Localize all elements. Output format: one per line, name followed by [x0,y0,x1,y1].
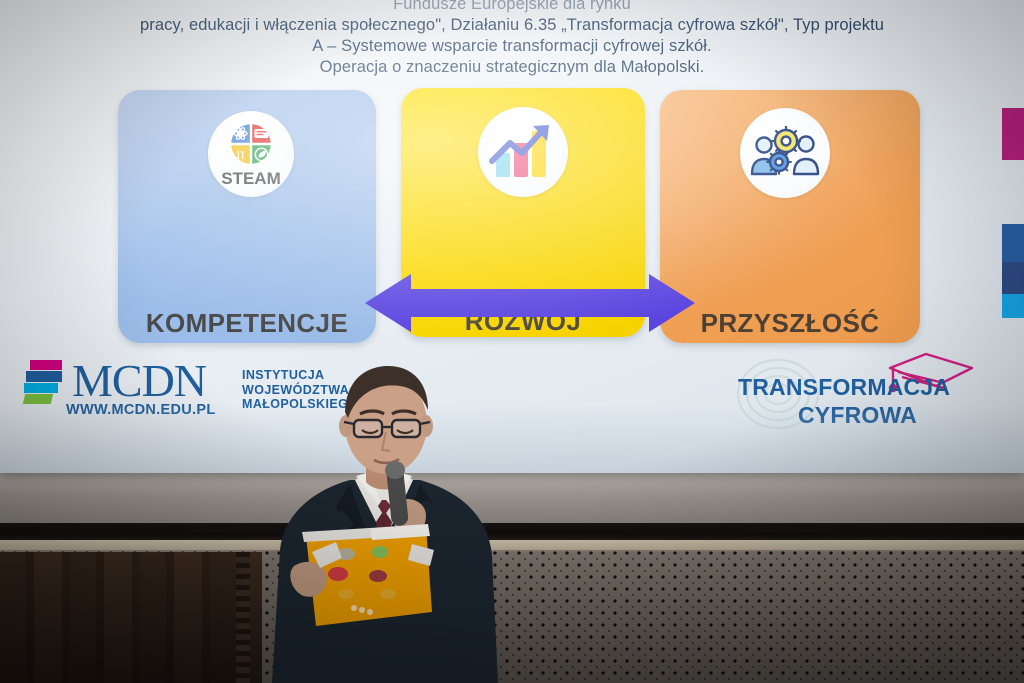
double-headed-arrow [365,272,695,334]
wood-edge-strip [236,552,250,683]
presentation-photo: Fundusze Europejskie dla rynku pracy, ed… [0,0,1024,683]
card-przyszlosc-label: PRZYSZŁOŚĆ [660,308,920,339]
slide-header-line-3: Operacja o znaczeniu strategicznym dla M… [0,57,1024,78]
transformacja-cyfrowa-logo: TRANSFORMACJA CYFROWA [730,360,980,430]
presenter-svg [250,360,520,683]
mcdn-logo-wordmark: MCDN [72,354,206,407]
mcdn-logo-url: WWW.MCDN.EDU.PL [66,402,215,418]
card-kompetencje-label: KOMPETENCJE [118,308,376,339]
double-headed-arrow-svg [365,272,695,334]
wood-paneling-shading [0,552,262,683]
teamwork-gears-icon-svg [749,122,821,184]
transformacja-line-2: CYFROWA [798,402,917,429]
teamwork-gears-icon [740,108,830,198]
presenter-speaker [250,360,520,683]
slide-header-text: Fundusze Europejskie dla rynku pracy, ed… [0,0,1024,78]
partial-logo-bars [998,96,1024,336]
transformacja-line-1: TRANSFORMACJA [738,374,950,401]
steam-icon: π STEAM [208,111,294,197]
steam-icon-svg: π STEAM [211,114,291,194]
svg-text:π: π [236,148,245,163]
mcdn-logo-bars [24,360,68,406]
slide-header-line-1: pracy, edukacji i włączenia społecznego"… [0,15,1024,36]
slide-header-line-cut: Fundusze Europejskie dla rynku [0,0,1024,15]
slide-header-line-2: A – Systemowe wsparcie transformacji cyf… [0,36,1024,57]
steam-icon-text: STEAM [221,169,281,188]
growth-chart-icon-svg [488,121,558,183]
growth-chart-icon [478,107,568,197]
